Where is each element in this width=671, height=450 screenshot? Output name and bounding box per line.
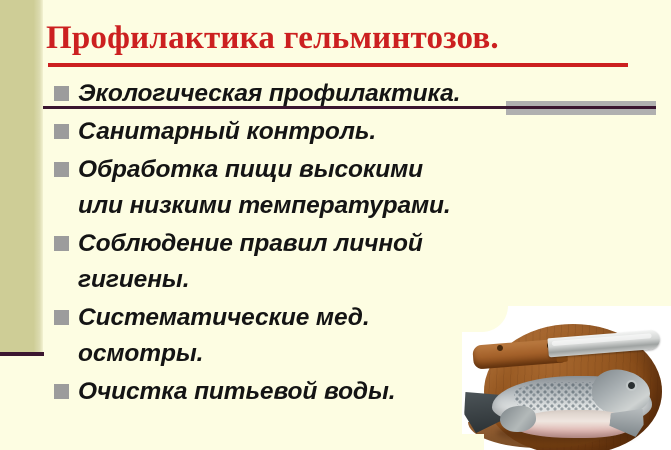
square-bullet-icon: [54, 86, 69, 101]
list-item-label: Очистка питьевой воды.: [78, 374, 522, 410]
fish-on-cutting-board-photo: [462, 306, 671, 450]
list-item-label: Систематические мед. осмотры.: [78, 300, 522, 372]
bullet-list: Экологическая профилактика. Санитарный к…: [52, 76, 522, 412]
fish-eye: [628, 382, 635, 389]
square-bullet-icon: [54, 162, 69, 177]
square-bullet-icon: [54, 384, 69, 399]
square-bullet-icon: [54, 236, 69, 251]
list-item: Очистка питьевой воды.: [52, 374, 522, 410]
page-title: Профилактика гельминтозов.: [46, 19, 646, 58]
list-item-label: Санитарный контроль.: [78, 114, 522, 150]
photo-corner-fade: [462, 434, 484, 450]
list-item: Соблюдение правил личной гигиены.: [52, 226, 522, 298]
list-item: Санитарный контроль.: [52, 114, 522, 150]
list-item: Обработка пищи высокими или низкими темп…: [52, 152, 522, 224]
left-band-bottom-rule: [0, 352, 44, 356]
left-decorative-band: [0, 0, 43, 353]
square-bullet-icon: [54, 124, 69, 139]
list-item-label: Обработка пищи высокими или низкими темп…: [78, 152, 522, 224]
horizontal-separator-rule: [43, 106, 656, 109]
list-item-label: Соблюдение правил личной гигиены.: [78, 226, 522, 298]
list-item: Систематические мед. осмотры.: [52, 300, 522, 372]
square-bullet-icon: [54, 310, 69, 325]
presentation-slide: Профилактика гельминтозов. Экологическая…: [0, 0, 671, 450]
title-underline: [48, 63, 628, 67]
